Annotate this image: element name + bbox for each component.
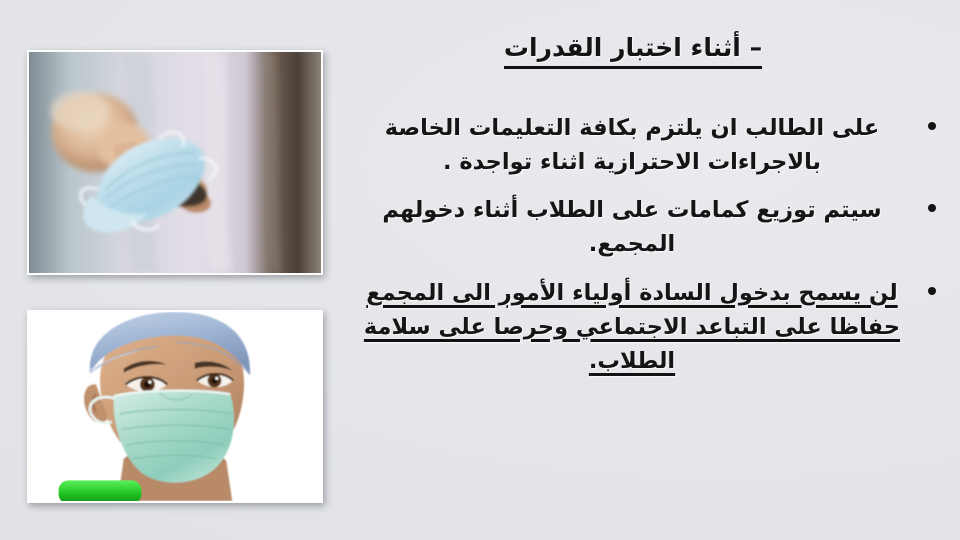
bullet-text-no-guardians-entry: لن يسمح بدخول السادة أولياء الأمور الى ا… [364, 280, 900, 374]
bullet-dot-icon [928, 122, 936, 130]
bullet-item-no-guardians-entry: لن يسمح بدخول السادة أولياء الأمور الى ا… [358, 276, 938, 379]
image-doctor-wearing-mask [27, 310, 323, 503]
bullet-item-instructions: على الطالب ان يلتزم بكافة التعليمات الخا… [358, 111, 938, 179]
bullet-list: على الطالب ان يلتزم بكافة التعليمات الخا… [358, 111, 938, 378]
slide-title: – أثناء اختبار القدرات [358, 34, 908, 69]
bullet-dot-icon [928, 287, 936, 295]
presentation-slide: – أثناء اختبار القدرات على الطالب ان يلت… [0, 0, 960, 540]
slide-title-text: – أثناء اختبار القدرات [504, 34, 762, 69]
doctor-mask-photo-graphic [29, 312, 321, 501]
green-accent-shape [59, 480, 142, 501]
bullet-text-instructions: على الطالب ان يلتزم بكافة التعليمات الخا… [385, 115, 879, 175]
baby-mask-photo-graphic [29, 52, 321, 273]
image-baby-with-surgical-mask [27, 50, 323, 275]
bullet-item-masks-distribution: سيتم توزيع كمامات على الطلاب أثناء دخوله… [358, 193, 938, 261]
bullet-dot-icon [928, 204, 936, 212]
bullet-text-masks-distribution: سيتم توزيع كمامات على الطلاب أثناء دخوله… [382, 197, 881, 257]
slide-text-column: – أثناء اختبار القدرات على الطالب ان يلت… [358, 34, 938, 392]
